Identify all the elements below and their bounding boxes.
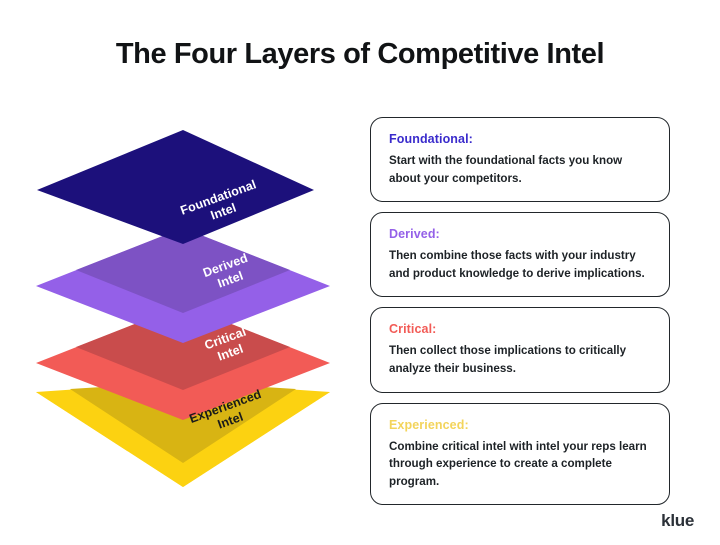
card-experienced[interactable]: Experienced: Combine critical intel with…: [370, 403, 670, 506]
page-title: The Four Layers of Competitive Intel: [0, 38, 720, 71]
card-body-critical: Then collect those implications to criti…: [389, 342, 653, 377]
card-heading-critical: Critical:: [389, 322, 653, 336]
description-card-list: Foundational: Start with the foundationa…: [370, 117, 670, 515]
card-body-foundational: Start with the foundational facts you kn…: [389, 152, 653, 187]
card-body-experienced: Combine critical intel with intel your r…: [389, 438, 653, 491]
klue-logo: klue: [661, 511, 694, 531]
diamond-foundational: [37, 130, 314, 244]
card-derived[interactable]: Derived: Then combine those facts with y…: [370, 212, 670, 297]
card-body-derived: Then combine those facts with your indus…: [389, 247, 653, 282]
card-foundational[interactable]: Foundational: Start with the foundationa…: [370, 117, 670, 202]
card-heading-foundational: Foundational:: [389, 132, 653, 146]
card-critical[interactable]: Critical: Then collect those implication…: [370, 307, 670, 392]
layer-stack-diagram: Foundational Intel Derived Intel Critica…: [18, 118, 348, 488]
card-heading-derived: Derived:: [389, 227, 653, 241]
layer-stack-svg: [18, 118, 348, 488]
card-heading-experienced: Experienced:: [389, 418, 653, 432]
